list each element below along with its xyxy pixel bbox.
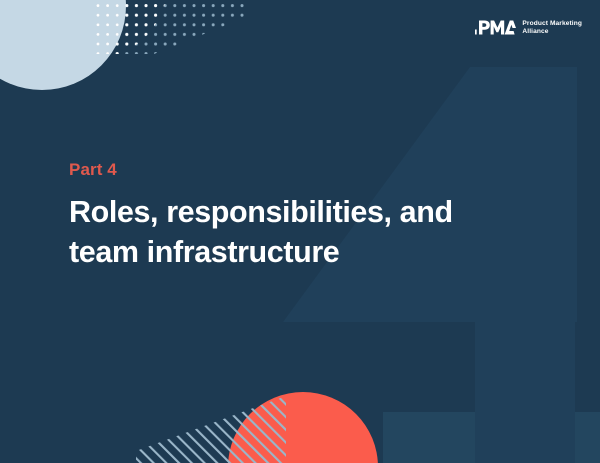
page-title: Roles, responsibilities, and team infras… [69, 192, 489, 273]
pma-logo-mark [475, 19, 516, 36]
title-block: Part 4 Roles, responsibilities, and team… [69, 160, 489, 273]
decorative-circle-bottom [228, 392, 378, 463]
logo-wordmark: Product Marketing Alliance [522, 20, 582, 35]
decorative-circle-top-left [0, 0, 126, 90]
part-label: Part 4 [69, 160, 489, 180]
slide-root: Product Marketing Alliance Part 4 Roles,… [0, 0, 600, 463]
logo-line-1: Product Marketing [522, 20, 582, 27]
pma-logo[interactable]: Product Marketing Alliance [475, 19, 582, 36]
logo-line-2: Alliance [522, 28, 582, 35]
